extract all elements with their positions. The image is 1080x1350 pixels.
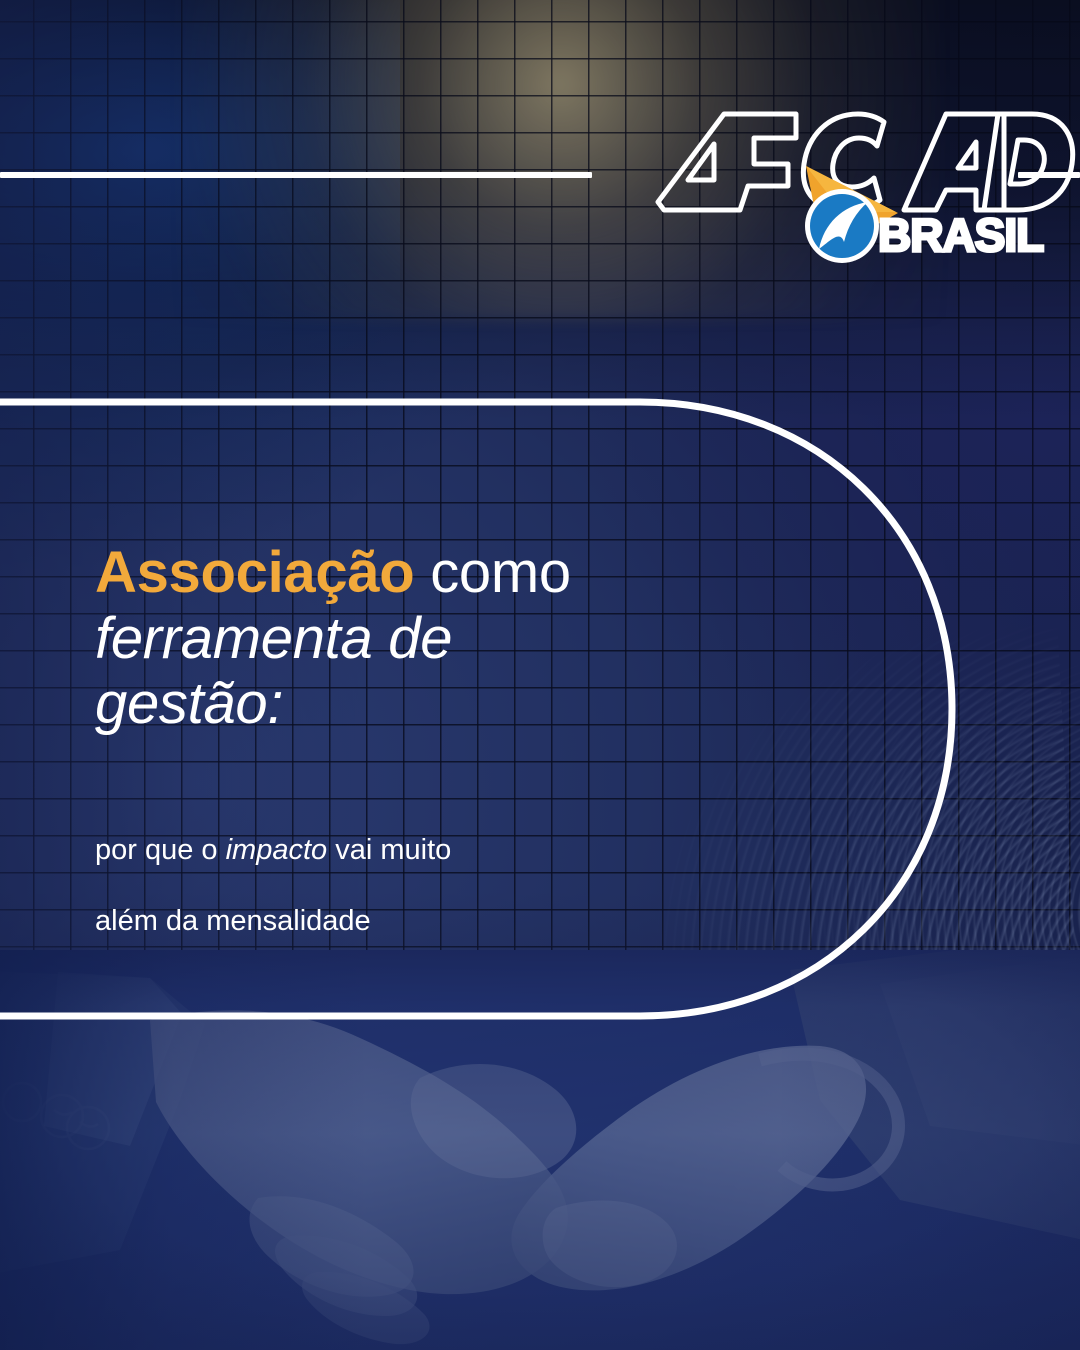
top-rule-left <box>0 172 592 178</box>
headline-emphasis: Associação <box>95 540 414 605</box>
subheadline-line-1-post: vai muito <box>327 834 451 866</box>
photo-vignette <box>0 950 1080 1350</box>
subheadline-line-1: por que o impacto vai muito <box>95 836 715 865</box>
page-title: Associação como ferramenta de gestão: <box>95 540 735 737</box>
headline-line-1: Associação como <box>95 540 735 606</box>
headline-line-2: ferramenta de <box>95 606 735 672</box>
subheadline-line-2: além da mensalidade <box>95 907 715 936</box>
subheadline-emphasis: impacto <box>226 834 328 866</box>
handshake-photo <box>0 950 1080 1350</box>
poster-canvas: BRASIL Associação como ferramenta de ges… <box>0 0 1080 1350</box>
brasil-wordmark: BRASIL <box>878 209 1043 261</box>
headline-block: Associação como ferramenta de gestão: <box>95 540 735 737</box>
acad-brasil-logo: BRASIL <box>628 108 1028 256</box>
subheadline-line-1-pre: por que o <box>95 834 226 866</box>
globe-swoosh-icon <box>805 189 879 263</box>
svg-text:BRASIL: BRASIL <box>878 209 1043 261</box>
subheadline-block: por que o impacto vai muito além da mens… <box>95 836 715 936</box>
headline-line-1-rest: como <box>414 540 570 605</box>
headline-line-3: gestão: <box>95 671 735 737</box>
